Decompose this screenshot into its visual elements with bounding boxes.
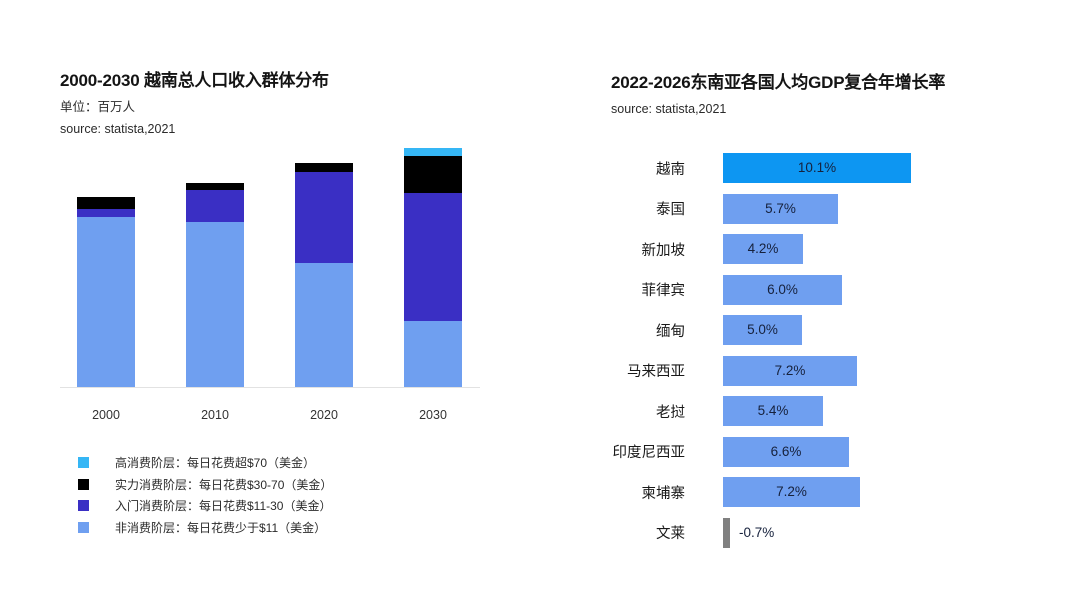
hbar-fill[interactable]: 5.0% xyxy=(723,315,802,345)
left-chart-subtitle-unit: 单位：百万人 xyxy=(60,96,135,115)
stack-segment[interactable] xyxy=(295,172,353,263)
hbar-track: 6.0% xyxy=(723,275,842,305)
hbar-row-越南[interactable]: 越南10.1% xyxy=(560,153,1080,183)
hbar-category-label: 柬埔寨 xyxy=(560,482,685,503)
hbar-category-label: 印度尼西亚 xyxy=(560,441,685,462)
stack-segment[interactable] xyxy=(77,209,135,217)
stack-segment[interactable] xyxy=(404,321,462,387)
hbar-row-文莱[interactable]: 文莱-0.7% xyxy=(560,518,1080,548)
hbar-row-柬埔寨[interactable]: 柬埔寨7.2% xyxy=(560,477,1080,507)
hbar-fill[interactable]: 7.2% xyxy=(723,477,860,507)
stacked-bar-column xyxy=(404,148,462,387)
hbar-value-label: 7.2% xyxy=(723,356,857,386)
stack-segment[interactable] xyxy=(77,217,135,387)
stack-segment[interactable] xyxy=(77,197,135,208)
stack-segment[interactable] xyxy=(404,193,462,321)
stacked-bar-column xyxy=(77,197,135,387)
hbar-value-label: 5.0% xyxy=(723,315,802,345)
stack-segment[interactable] xyxy=(186,222,244,387)
stacked-bar-2010[interactable] xyxy=(186,145,244,387)
legend-item[interactable]: 高消费阶层：每日花费超$70（美金） xyxy=(78,452,332,474)
left-chart-source: source: statista,2021 xyxy=(60,122,175,136)
hbar-row-泰国[interactable]: 泰国5.7% xyxy=(560,194,1080,224)
hbar-category-label: 越南 xyxy=(560,158,685,179)
hbar-fill[interactable]: 10.1% xyxy=(723,153,911,183)
hbar-value-label: 6.0% xyxy=(723,275,842,305)
hbar-row-马来西亚[interactable]: 马来西亚7.2% xyxy=(560,356,1080,386)
legend-swatch-high xyxy=(78,457,89,468)
left-chart-panel: 2000-2030 越南总人口收入群体分布 单位：百万人 source: sta… xyxy=(0,0,560,608)
legend-item[interactable]: 入门消费阶层：每日花费$11-30（美金） xyxy=(78,495,332,517)
hbar-value-label: 6.6% xyxy=(723,437,849,467)
legend-swatch-power xyxy=(78,479,89,490)
right-chart-panel: 2022-2026东南亚各国人均GDP复合年增长率 source: statis… xyxy=(560,0,1080,608)
hbar-track: 7.2% xyxy=(723,477,860,507)
hbar-row-缅甸[interactable]: 缅甸5.0% xyxy=(560,315,1080,345)
x-tick-2010: 2010 xyxy=(186,408,244,422)
hbar-value-label: 5.4% xyxy=(723,396,823,426)
hbar-value-label: -0.7% xyxy=(739,518,774,548)
hbar-value-label: 10.1% xyxy=(723,153,911,183)
hbar-fill[interactable]: 4.2% xyxy=(723,234,803,264)
stacked-bar-2000[interactable] xyxy=(77,145,135,387)
hbar-fill[interactable]: 5.7% xyxy=(723,194,838,224)
hbar-track: -0.7% xyxy=(723,518,730,548)
hbar-row-新加坡[interactable]: 新加坡4.2% xyxy=(560,234,1080,264)
hbar-track: 4.2% xyxy=(723,234,803,264)
hbar-category-label: 文莱 xyxy=(560,522,685,543)
hbar-category-label: 新加坡 xyxy=(560,239,685,260)
hbar-row-老挝[interactable]: 老挝5.4% xyxy=(560,396,1080,426)
legend-item-label: 入门消费阶层：每日花费$11-30（美金） xyxy=(115,497,331,514)
hbar-category-label: 菲律宾 xyxy=(560,279,685,300)
stack-segment[interactable] xyxy=(404,148,462,156)
hbar-track: 7.2% xyxy=(723,356,857,386)
hbar-fill[interactable]: 6.6% xyxy=(723,437,849,467)
x-tick-2020: 2020 xyxy=(295,408,353,422)
legend-swatch-entry xyxy=(78,500,89,511)
x-axis-baseline xyxy=(60,387,480,388)
hbar-track: 10.1% xyxy=(723,153,911,183)
stack-segment[interactable] xyxy=(404,156,462,193)
stack-segment[interactable] xyxy=(186,190,244,222)
legend-item-label: 实力消费阶层：每日花费$30-70（美金） xyxy=(115,476,332,493)
hbar-track: 6.6% xyxy=(723,437,849,467)
left-chart-legend: 高消费阶层：每日花费超$70（美金）实力消费阶层：每日花费$30-70（美金）入… xyxy=(78,452,332,538)
hbar-category-label: 泰国 xyxy=(560,198,685,219)
hbar-value-label: 7.2% xyxy=(723,477,860,507)
stacked-bar-2030[interactable] xyxy=(404,145,462,387)
hbar-category-label: 马来西亚 xyxy=(560,360,685,381)
hbar-track: 5.4% xyxy=(723,396,823,426)
hbar-value-label: 4.2% xyxy=(723,234,803,264)
stack-segment[interactable] xyxy=(295,163,353,172)
hbar-category-label: 老挝 xyxy=(560,401,685,422)
legend-item-label: 非消费阶层：每日花费少于$11（美金） xyxy=(115,519,326,536)
legend-item[interactable]: 实力消费阶层：每日花费$30-70（美金） xyxy=(78,474,332,496)
hbar-row-菲律宾[interactable]: 菲律宾6.0% xyxy=(560,275,1080,305)
x-tick-2030: 2030 xyxy=(404,408,462,422)
x-tick-2000: 2000 xyxy=(77,408,135,422)
hbar-fill[interactable]: -0.7% xyxy=(723,518,730,548)
stacked-bar-plot-area xyxy=(60,145,480,387)
hbar-fill[interactable]: 6.0% xyxy=(723,275,842,305)
stack-segment[interactable] xyxy=(295,263,353,387)
horizontal-bar-plot-area: 越南10.1%泰国5.7%新加坡4.2%菲律宾6.0%缅甸5.0%马来西亚7.2… xyxy=(560,0,1080,608)
hbar-row-印度尼西亚[interactable]: 印度尼西亚6.6% xyxy=(560,437,1080,467)
legend-item[interactable]: 非消费阶层：每日花费少于$11（美金） xyxy=(78,517,332,539)
stacked-bar-column xyxy=(186,183,244,387)
hbar-value-label: 5.7% xyxy=(723,194,838,224)
stacked-bar-2020[interactable] xyxy=(295,145,353,387)
hbar-fill[interactable]: 7.2% xyxy=(723,356,857,386)
stacked-bar-column xyxy=(295,163,353,387)
hbar-track: 5.7% xyxy=(723,194,838,224)
legend-swatch-none xyxy=(78,522,89,533)
hbar-category-label: 缅甸 xyxy=(560,320,685,341)
hbar-fill[interactable]: 5.4% xyxy=(723,396,823,426)
legend-item-label: 高消费阶层：每日花费超$70（美金） xyxy=(115,454,315,471)
hbar-track: 5.0% xyxy=(723,315,802,345)
left-chart-title: 2000-2030 越南总人口收入群体分布 xyxy=(60,66,329,91)
